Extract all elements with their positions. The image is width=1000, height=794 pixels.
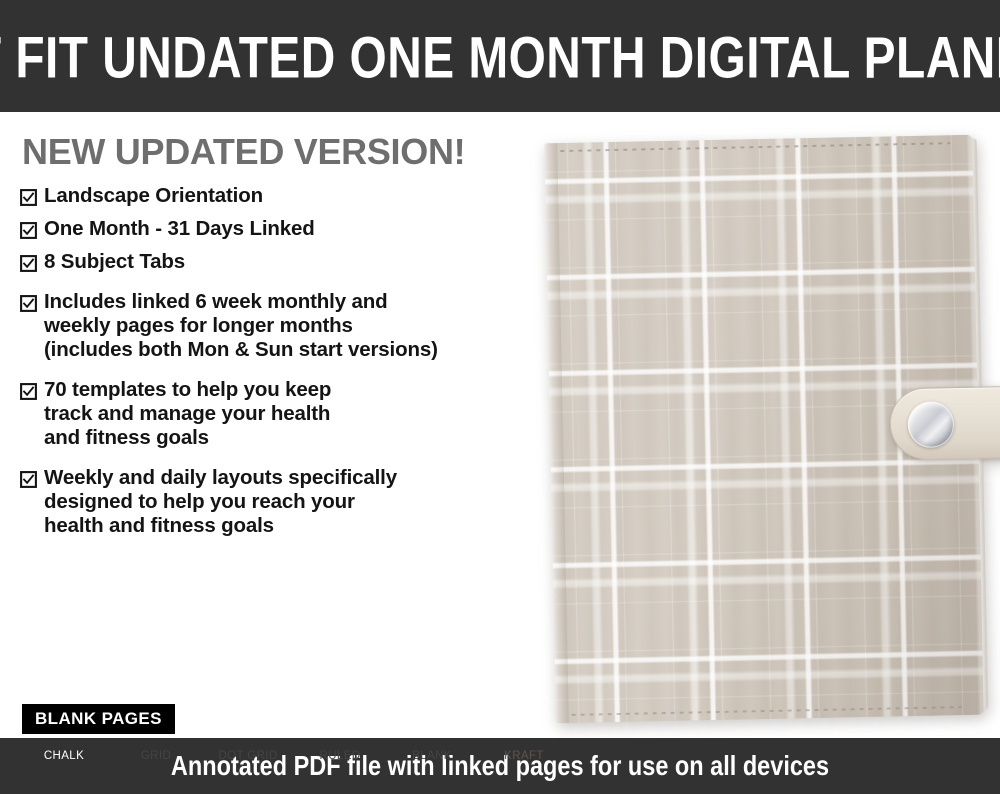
list-item: Includes linked 6 week monthly and weekl… [20,290,540,362]
header-bar: GET FIT UNDATED ONE MONTH DIGITAL PLANNE… [0,0,1000,112]
product-image [540,125,990,725]
list-item-label: Weekly and daily layouts specifically de… [44,466,397,538]
list-item: 8 Subject Tabs [20,250,540,274]
cover-spine [544,143,569,723]
plaid-planner-cover [544,135,984,723]
list-item-label: Includes linked 6 week monthly and weekl… [44,290,438,362]
feature-list: Landscape Orientation One Month - 31 Day… [20,184,540,548]
poster-canvas: GET FIT UNDATED ONE MONTH DIGITAL PLANNE… [0,0,1000,794]
checked-checkbox-icon [20,471,37,488]
swatch-label: KRAFT [483,750,565,762]
list-item-label: 70 templates to help you keep track and … [44,378,331,450]
features-panel: NEW UPDATED VERSION! Landscape Orientati… [0,112,545,738]
checked-checkbox-icon [20,255,37,272]
footer-bar: Annotated PDF file with linked pages for… [0,738,1000,794]
list-item: One Month - 31 Days Linked [20,217,540,241]
list-item-label: One Month - 31 Days Linked [44,217,315,241]
snap-button-icon [907,401,954,448]
checked-checkbox-icon [20,222,37,239]
list-item-label: Landscape Orientation [44,184,263,208]
page-title: GET FIT UNDATED ONE MONTH DIGITAL PLANNE… [40,0,960,119]
stitch-top [560,142,950,152]
checked-checkbox-icon [20,189,37,206]
footer-text: Annotated PDF file with linked pages for… [30,735,970,794]
checked-checkbox-icon [20,295,37,312]
stitch-bottom [572,706,962,716]
list-item: 70 templates to help you keep track and … [20,378,540,450]
swatch-label: BLANK [391,750,473,762]
clasp-strap [889,386,1000,460]
swatch-label: GRID [115,750,197,762]
list-item: Landscape Orientation [20,184,540,208]
blank-pages-badge: BLANK PAGES [22,704,175,734]
list-item-label: 8 Subject Tabs [44,250,185,274]
checked-checkbox-icon [20,383,37,400]
swatch-label: RULED [299,750,381,762]
list-item: Weekly and daily layouts specifically de… [20,466,540,538]
swatch-label: CHALK [23,750,105,762]
swatch-label: DOT GRID [207,750,289,762]
headline: NEW UPDATED VERSION! [22,134,465,170]
